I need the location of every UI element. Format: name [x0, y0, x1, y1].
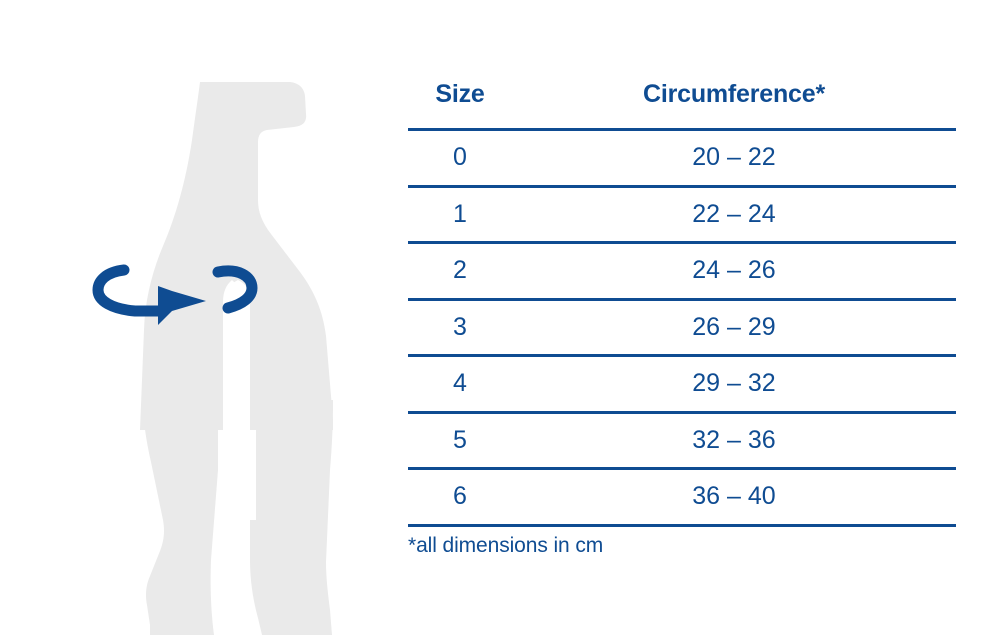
cell-circumference: 36 – 40	[512, 469, 956, 526]
table-row: 4 29 – 32	[408, 356, 956, 413]
cell-size: 4	[408, 356, 512, 413]
table-row: 5 32 – 36	[408, 412, 956, 469]
cell-size: 1	[408, 186, 512, 243]
cell-circumference: 26 – 29	[512, 299, 956, 356]
cell-size: 3	[408, 299, 512, 356]
table-row: 6 36 – 40	[408, 469, 956, 526]
right-leg-silhouette	[250, 400, 333, 635]
table-row: 0 20 – 22	[408, 130, 956, 187]
column-header-size: Size	[408, 60, 512, 130]
cell-size: 2	[408, 243, 512, 300]
cell-size: 0	[408, 130, 512, 187]
cell-size: 6	[408, 469, 512, 526]
table-head: Size Circumference*	[408, 60, 956, 130]
table-row: 1 22 – 24	[408, 186, 956, 243]
table-body: 0 20 – 22 1 22 – 24 2 24 – 26 3 26 – 29 …	[408, 130, 956, 526]
cell-circumference: 29 – 32	[512, 356, 956, 413]
table-row: 2 24 – 26	[408, 243, 956, 300]
knee-highlight	[246, 430, 256, 520]
table-header-row: Size Circumference*	[408, 60, 956, 130]
cell-size: 5	[408, 412, 512, 469]
size-chart-page: Size Circumference* 0 20 – 22 1 22 – 24 …	[0, 0, 1000, 635]
size-chart-table-wrapper: Size Circumference* 0 20 – 22 1 22 – 24 …	[408, 60, 956, 527]
cell-circumference: 24 – 26	[512, 243, 956, 300]
table-row: 3 26 – 29	[408, 299, 956, 356]
cell-circumference: 20 – 22	[512, 130, 956, 187]
thigh-circumference-measurement-illustration	[0, 0, 400, 635]
cell-circumference: 32 – 36	[512, 412, 956, 469]
size-chart-table: Size Circumference* 0 20 – 22 1 22 – 24 …	[408, 60, 956, 527]
footnote-text: *all dimensions in cm	[408, 534, 603, 558]
cell-circumference: 22 – 24	[512, 186, 956, 243]
column-header-circumference: Circumference*	[512, 60, 956, 130]
hips-and-legs-silhouette	[140, 82, 335, 635]
